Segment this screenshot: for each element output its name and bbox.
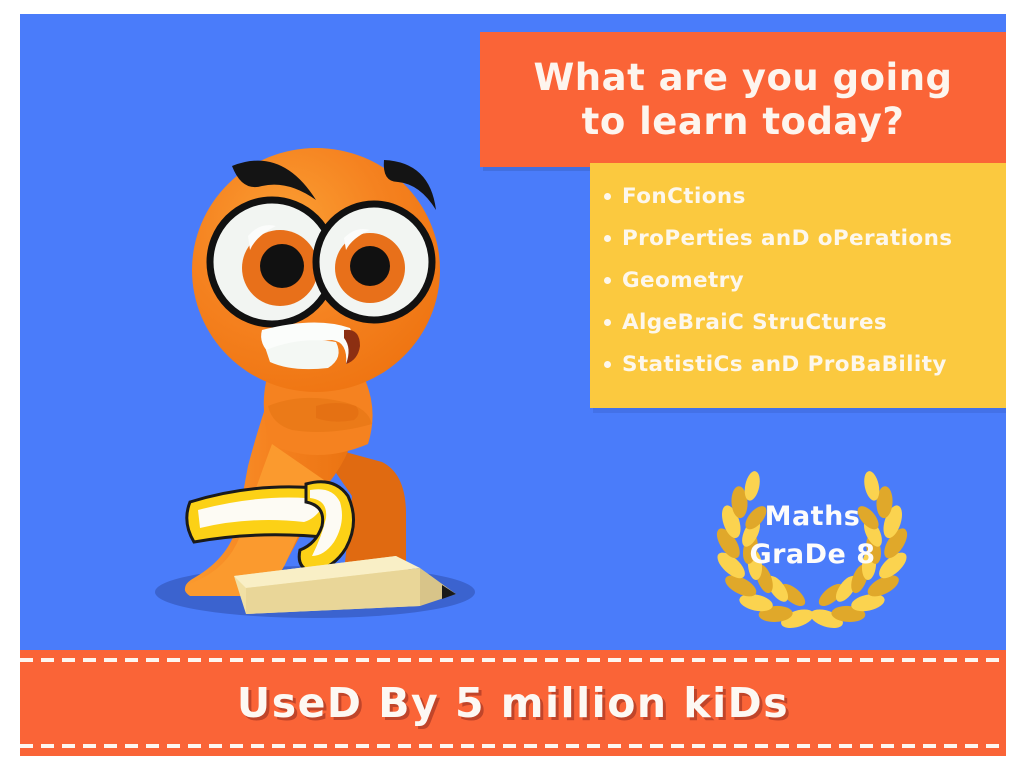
- topic-item-0[interactable]: FonCtions: [590, 175, 1006, 217]
- footer-tagline: UseD By 5 million kiDs: [20, 650, 1006, 756]
- topics-panel: FonCtions ProPerties anD oPerations Geom…: [590, 163, 1006, 408]
- badge-text-group: Maths GraDe 8: [710, 438, 915, 634]
- badge-line-1: Maths: [765, 498, 861, 536]
- mascot-eye-right: [316, 204, 432, 320]
- topic-label: ProPerties anD oPerations: [622, 226, 952, 251]
- title-panel: What are you going to learn today?: [480, 32, 1006, 167]
- badge-line-2: GraDe 8: [749, 536, 875, 574]
- topic-item-1[interactable]: ProPerties anD oPerations: [590, 217, 1006, 259]
- title-line-1: What are you going: [533, 56, 952, 100]
- bullet-icon: [604, 319, 611, 326]
- title-line-2: to learn today?: [582, 100, 905, 144]
- bullet-icon: [604, 193, 611, 200]
- mascot-hand: [316, 403, 359, 422]
- topic-label: Geometry: [622, 268, 744, 293]
- footer-banner: UseD By 5 million kiDs: [20, 650, 1006, 756]
- bullet-icon: [604, 235, 611, 242]
- laurel-badge: Maths GraDe 8: [710, 438, 915, 634]
- topic-label: FonCtions: [622, 184, 746, 209]
- topic-label: StatistiCs anD ProBaBility: [622, 352, 947, 377]
- topic-item-4[interactable]: StatistiCs anD ProBaBility: [590, 343, 1006, 385]
- slide-canvas: What are you going to learn today? FonCt…: [20, 14, 1006, 756]
- mascot-illustration: [120, 144, 520, 644]
- topic-item-2[interactable]: Geometry: [590, 259, 1006, 301]
- bullet-icon: [604, 277, 611, 284]
- topic-item-3[interactable]: AlgeBraiC StruCtures: [590, 301, 1006, 343]
- bullet-icon: [604, 361, 611, 368]
- topic-label: AlgeBraiC StruCtures: [622, 310, 887, 335]
